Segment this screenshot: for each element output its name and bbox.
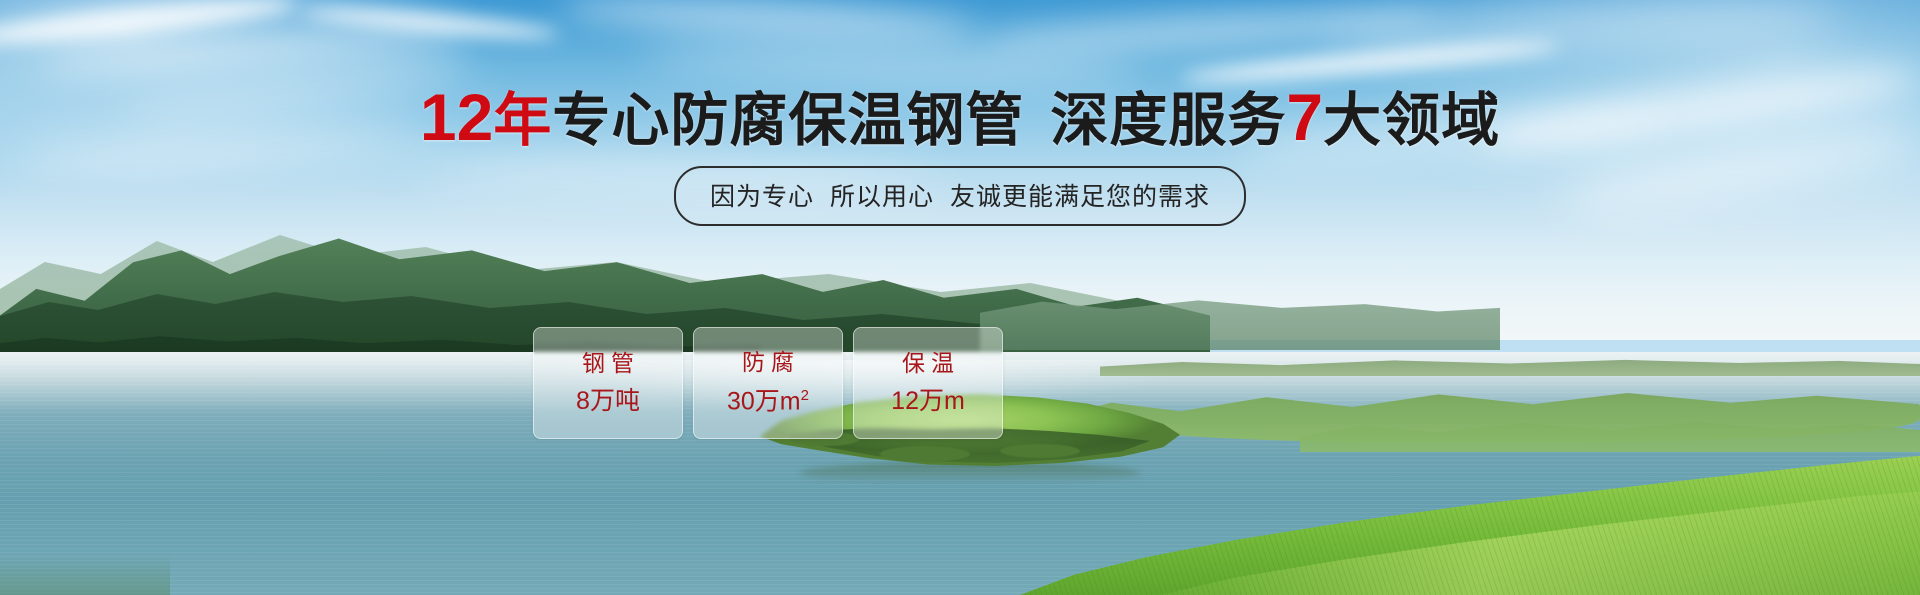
banner-content: 12年专心防腐保温钢管深度服务7大领域 因为专心所以用心友诚更能满足您的需求 钢… (0, 0, 1920, 595)
subtitle-part-3: 友诚更能满足您的需求 (950, 183, 1210, 211)
banner-subtitle-pill: 因为专心所以用心友诚更能满足您的需求 (674, 166, 1246, 226)
headline-main-text: 专心防腐保温钢管 (552, 88, 1024, 153)
headline-fields-text: 大领域 (1323, 88, 1500, 153)
headline-years-unit: 年 (493, 88, 552, 153)
stat-card: 防腐 30万m2 (693, 327, 843, 439)
subtitle-part-1: 因为专心 (710, 183, 814, 211)
stat-card-label: 钢管 (576, 352, 640, 375)
stat-card-value-text: 30万m (727, 388, 801, 416)
stat-card-value: 12万m (891, 389, 965, 414)
headline-years-number: 12 (420, 80, 493, 154)
stat-card: 钢管 8万吨 (533, 327, 683, 439)
stat-cards: 钢管 8万吨 防腐 30万m2 保温 12万m (533, 327, 1003, 439)
headline-service-text: 深度服务 (1050, 88, 1286, 153)
promo-banner: 12年专心防腐保温钢管深度服务7大领域 因为专心所以用心友诚更能满足您的需求 钢… (0, 0, 1920, 595)
stat-card-value-text: 12万m (891, 387, 965, 415)
stat-card-value-text: 8万吨 (576, 387, 640, 415)
stat-card-label: 保温 (896, 352, 960, 375)
stat-card-value: 8万吨 (576, 389, 640, 414)
stat-card-value-superscript: 2 (801, 387, 809, 404)
stat-card: 保温 12万m (853, 327, 1003, 439)
headline-fields-number: 7 (1286, 80, 1323, 154)
banner-headline: 12年专心防腐保温钢管深度服务7大领域 (0, 84, 1920, 150)
banner-subtitle-wrapper: 因为专心所以用心友诚更能满足您的需求 (0, 166, 1920, 226)
subtitle-part-2: 所以用心 (830, 183, 934, 211)
stat-card-value: 30万m2 (727, 388, 809, 414)
stat-card-label: 防腐 (736, 351, 800, 374)
